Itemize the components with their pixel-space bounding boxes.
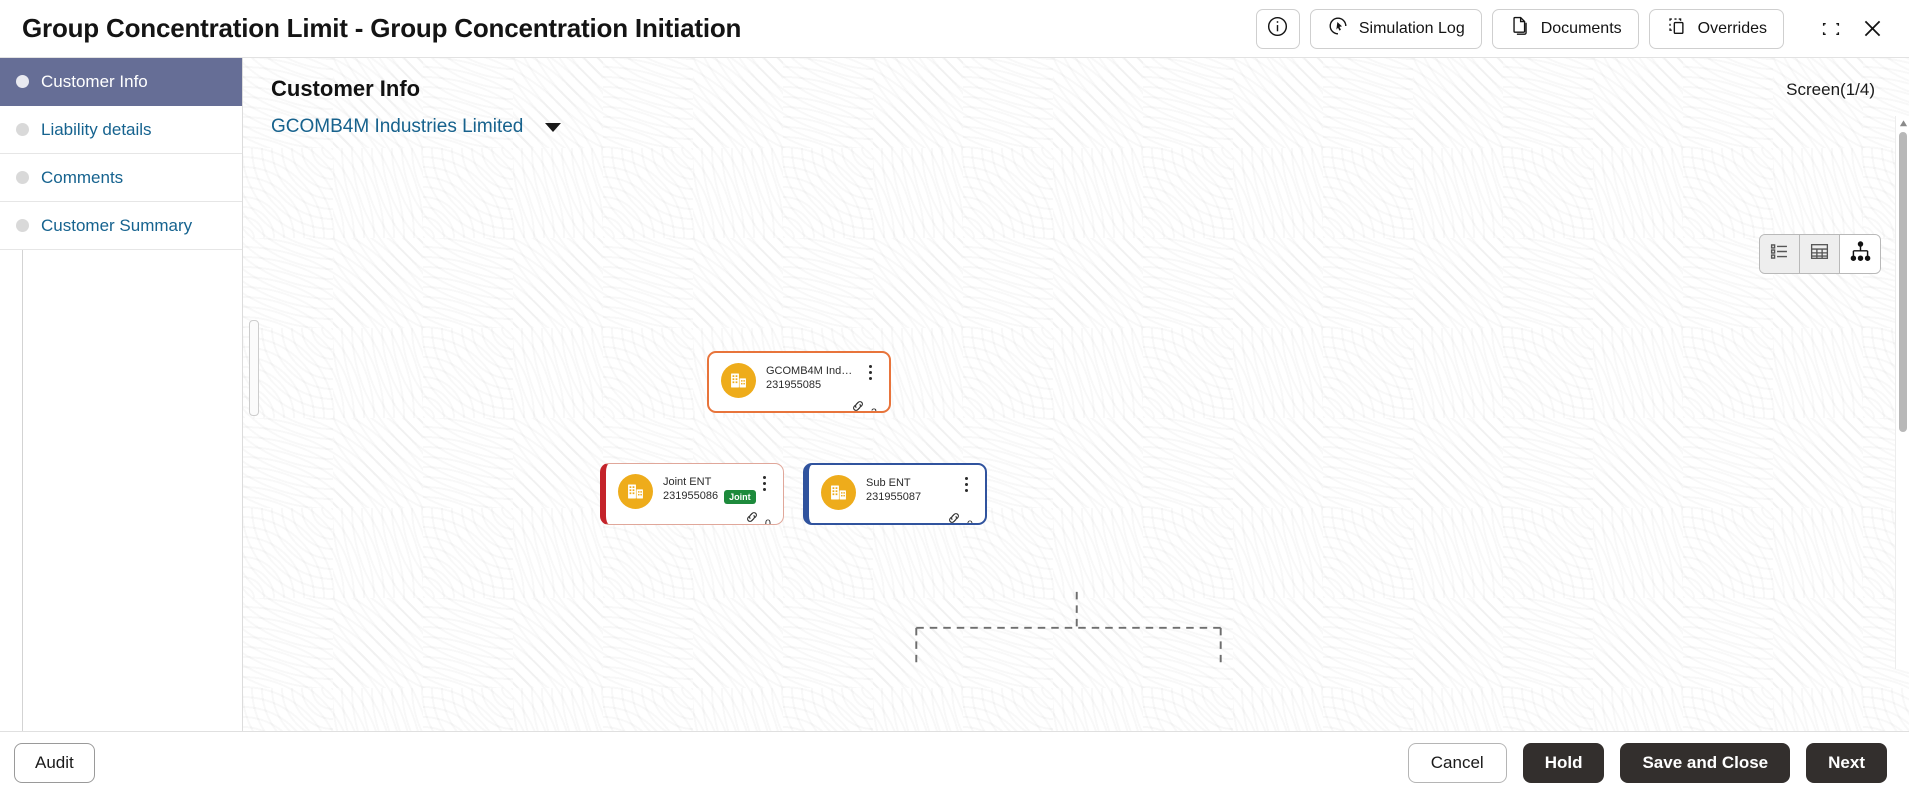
page-title: Group Concentration Limit - Group Concen… bbox=[22, 13, 741, 44]
kebab-menu-icon[interactable] bbox=[757, 474, 771, 491]
node-texts: Joint ENT 231955086 Joint bbox=[663, 474, 747, 504]
scroll-up-icon[interactable] bbox=[1896, 116, 1909, 130]
link-icon[interactable] bbox=[850, 398, 866, 413]
step-dot-icon bbox=[16, 75, 29, 88]
sidebar-item-customer-summary[interactable]: Customer Summary bbox=[0, 202, 242, 250]
screen-counter: Screen(1/4) bbox=[1786, 80, 1875, 100]
sidebar-item-comments[interactable]: Comments bbox=[0, 154, 242, 202]
link-icon[interactable] bbox=[744, 509, 760, 525]
node-header: Sub ENT 231955087 bbox=[821, 475, 973, 510]
vertical-scrollbar[interactable] bbox=[1895, 116, 1909, 669]
node-id-row: 231955087 bbox=[866, 490, 949, 505]
sidebar-item-label: Customer Summary bbox=[41, 216, 192, 236]
node-name: GCOMB4M Industri... bbox=[766, 364, 853, 378]
node-customer-id: 231955087 bbox=[866, 490, 921, 505]
application-window: Group Concentration Limit - Group Concen… bbox=[0, 0, 1909, 793]
step-dot-icon bbox=[16, 123, 29, 136]
overrides-label: Overrides bbox=[1698, 20, 1767, 38]
node-name: Joint ENT bbox=[663, 475, 747, 489]
restore-window-button[interactable] bbox=[1820, 18, 1842, 40]
audit-button[interactable]: Audit bbox=[14, 743, 95, 783]
window-controls bbox=[1820, 16, 1885, 41]
sidebar-item-label: Customer Info bbox=[41, 72, 148, 92]
tree-node-parent[interactable]: GCOMB4M Industri... 231955085 bbox=[707, 351, 891, 413]
step-dot-icon bbox=[16, 219, 29, 232]
sidebar-item-customer-info[interactable]: Customer Info bbox=[0, 58, 242, 106]
tree-view-icon bbox=[1849, 240, 1872, 268]
customer-select[interactable]: GCOMB4M Industries Limited bbox=[271, 116, 561, 138]
customer-select-value: GCOMB4M Industries Limited bbox=[271, 116, 523, 138]
table-view-icon bbox=[1809, 241, 1830, 267]
info-button[interactable] bbox=[1256, 9, 1300, 49]
node-id-row: 231955086 Joint bbox=[663, 489, 747, 504]
node-link-count: 0 bbox=[765, 519, 771, 525]
view-toggle-group bbox=[1759, 234, 1881, 274]
table-view-button[interactable] bbox=[1800, 235, 1840, 273]
section-title: Customer Info bbox=[271, 76, 1909, 102]
cancel-button[interactable]: Cancel bbox=[1408, 743, 1507, 783]
node-link-count: 0 bbox=[967, 520, 973, 525]
main-content: Screen(1/4) Customer Info GCOMB4M Indust… bbox=[243, 58, 1909, 731]
node-customer-id: 231955085 bbox=[766, 378, 821, 393]
tree-node-sub[interactable]: Sub ENT 231955087 bbox=[803, 463, 987, 525]
node-footer: 0 bbox=[821, 510, 973, 525]
body: Customer Info Liability details Comments… bbox=[0, 58, 1909, 731]
node-id-row: 231955085 bbox=[766, 378, 853, 393]
sidebar: Customer Info Liability details Comments… bbox=[0, 58, 243, 731]
node-texts: GCOMB4M Industri... 231955085 bbox=[766, 363, 853, 393]
tree-node-joint[interactable]: Joint ENT 231955086 Joint bbox=[600, 463, 784, 525]
documents-button[interactable]: Documents bbox=[1492, 9, 1639, 49]
sidebar-item-label: Comments bbox=[41, 168, 123, 188]
tree-canvas: GCOMB4M Industri... 231955085 bbox=[243, 58, 1909, 731]
kebab-menu-icon[interactable] bbox=[959, 475, 973, 492]
titlebar-actions: Simulation Log Documents bbox=[1256, 9, 1893, 49]
building-icon bbox=[721, 363, 756, 398]
documents-icon bbox=[1509, 15, 1531, 42]
node-footer: 0 bbox=[618, 509, 771, 525]
node-texts: Sub ENT 231955087 bbox=[866, 475, 949, 505]
chevron-down-icon bbox=[545, 123, 561, 132]
scrollbar-thumb[interactable] bbox=[1899, 132, 1907, 432]
panel-collapse-handle[interactable] bbox=[249, 320, 259, 416]
tree-view-button[interactable] bbox=[1840, 235, 1880, 273]
kebab-menu-icon[interactable] bbox=[863, 363, 877, 380]
list-view-button[interactable] bbox=[1760, 235, 1800, 273]
status-badge: Joint bbox=[724, 490, 756, 504]
simulation-log-label: Simulation Log bbox=[1359, 20, 1465, 38]
node-link-count: 2 bbox=[871, 408, 877, 413]
save-and-close-button[interactable]: Save and Close bbox=[1620, 743, 1790, 783]
list-view-icon bbox=[1769, 241, 1790, 267]
node-header: Joint ENT 231955086 Joint bbox=[618, 474, 771, 509]
step-dot-icon bbox=[16, 171, 29, 184]
next-button[interactable]: Next bbox=[1806, 743, 1887, 783]
documents-label: Documents bbox=[1541, 20, 1622, 38]
title-bar: Group Concentration Limit - Group Concen… bbox=[0, 0, 1909, 58]
node-customer-id: 231955086 bbox=[663, 489, 718, 504]
link-icon[interactable] bbox=[946, 510, 962, 525]
node-header: GCOMB4M Industri... 231955085 bbox=[721, 363, 877, 398]
building-icon bbox=[618, 474, 653, 509]
tree-connectors bbox=[243, 58, 1909, 731]
simulation-log-icon bbox=[1327, 15, 1349, 42]
overrides-button[interactable]: Overrides bbox=[1649, 9, 1784, 49]
sidebar-item-label: Liability details bbox=[41, 120, 152, 140]
simulation-log-button[interactable]: Simulation Log bbox=[1310, 9, 1482, 49]
sidebar-item-liability-details[interactable]: Liability details bbox=[0, 106, 242, 154]
building-icon bbox=[821, 475, 856, 510]
node-name: Sub ENT bbox=[866, 476, 949, 490]
overrides-icon bbox=[1666, 15, 1688, 42]
footer-bar: Audit Cancel Hold Save and Close Next bbox=[0, 731, 1909, 793]
hold-button[interactable]: Hold bbox=[1523, 743, 1605, 783]
info-circle-icon bbox=[1266, 15, 1289, 43]
footer-actions: Cancel Hold Save and Close Next bbox=[1408, 743, 1887, 783]
node-footer: 2 bbox=[721, 398, 877, 413]
close-window-button[interactable] bbox=[1860, 16, 1885, 41]
